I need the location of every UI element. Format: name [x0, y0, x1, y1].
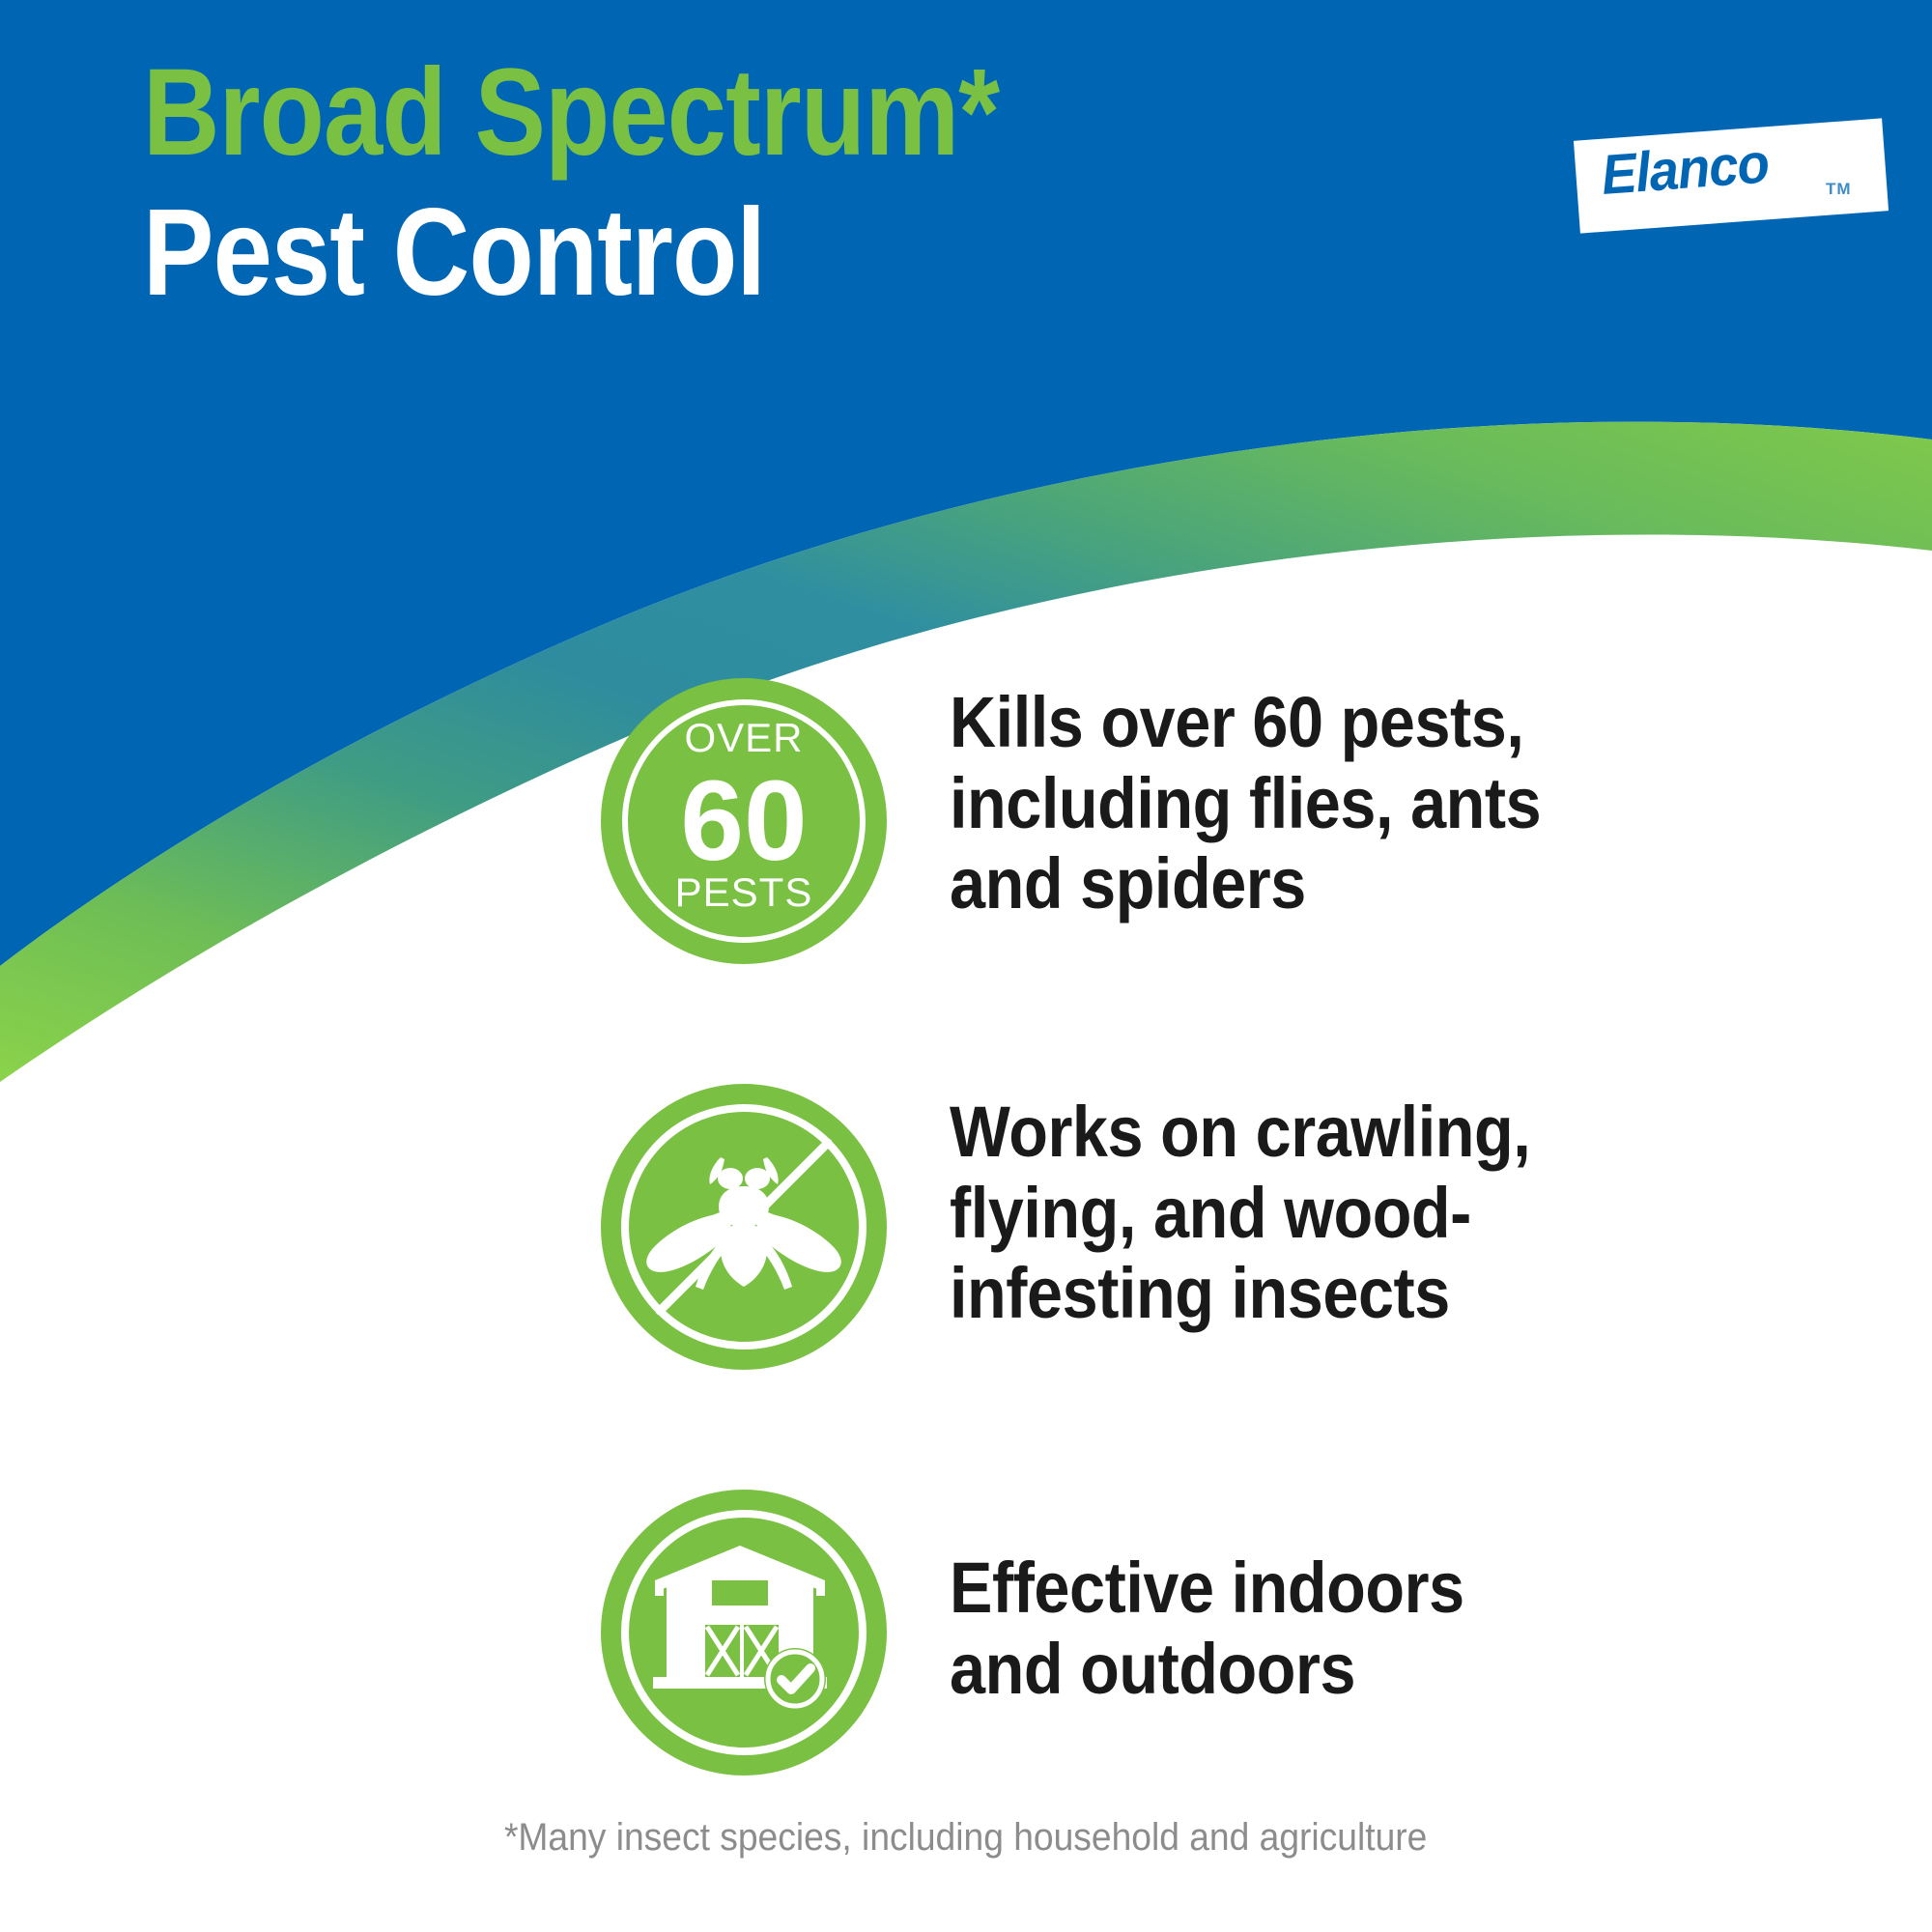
barn-check-indoor-outdoor-icon: [599, 1488, 889, 1777]
feature-row: Effective indoors and outdoors: [599, 1488, 1874, 1777]
footnote: *Many insect species, including househol…: [0, 1816, 1932, 1860]
feature-text-line: including flies, ants: [950, 763, 1776, 844]
feature-row: Works on crawling, flying, and wood- inf…: [599, 1082, 1874, 1372]
feature-text: Kills over 60 pests, including flies, an…: [889, 676, 1776, 924]
badge-number: 60: [680, 757, 807, 885]
feature-text-line: and outdoors: [950, 1629, 1776, 1710]
feature-text-line: Kills over 60 pests,: [950, 682, 1776, 763]
feature-row: OVER 60 PESTS Kills over 60 pests, inclu…: [599, 676, 1874, 966]
feature-text-line: Effective indoors: [950, 1548, 1776, 1629]
feature-text-line: infesting insects: [950, 1253, 1776, 1334]
infographic-page: Broad Spectrum* Pest Control Elanco TM O…: [0, 0, 1932, 1932]
feature-text-line: Works on crawling,: [950, 1092, 1776, 1173]
title-line-primary: Broad Spectrum*: [143, 50, 1140, 177]
check-badge-icon: [764, 1648, 826, 1710]
header: Broad Spectrum* Pest Control Elanco TM: [0, 0, 1932, 415]
badge-bottom-label: PESTS: [675, 869, 813, 915]
over-60-pests-badge-icon: OVER 60 PESTS: [599, 676, 889, 966]
barn-hayloft-window: [712, 1580, 768, 1605]
feature-text: Works on crawling, flying, and wood- inf…: [889, 1082, 1776, 1334]
logo-wordmark: Elanco: [1600, 135, 1771, 204]
page-title: Broad Spectrum* Pest Control: [143, 50, 1302, 316]
title-line-secondary: Pest Control: [143, 190, 1140, 317]
feature-text-line: and spiders: [950, 843, 1776, 924]
feature-text-line: flying, and wood-: [950, 1173, 1776, 1254]
no-fly-icon: [599, 1082, 889, 1372]
badge-top-label: OVER: [684, 715, 803, 760]
trademark-mark: TM: [1826, 180, 1852, 199]
elanco-logo: Elanco TM: [1577, 116, 1915, 261]
feature-text: Effective indoors and outdoors: [889, 1488, 1776, 1709]
footnote-text: *Many insect species, including househol…: [504, 1816, 1427, 1860]
